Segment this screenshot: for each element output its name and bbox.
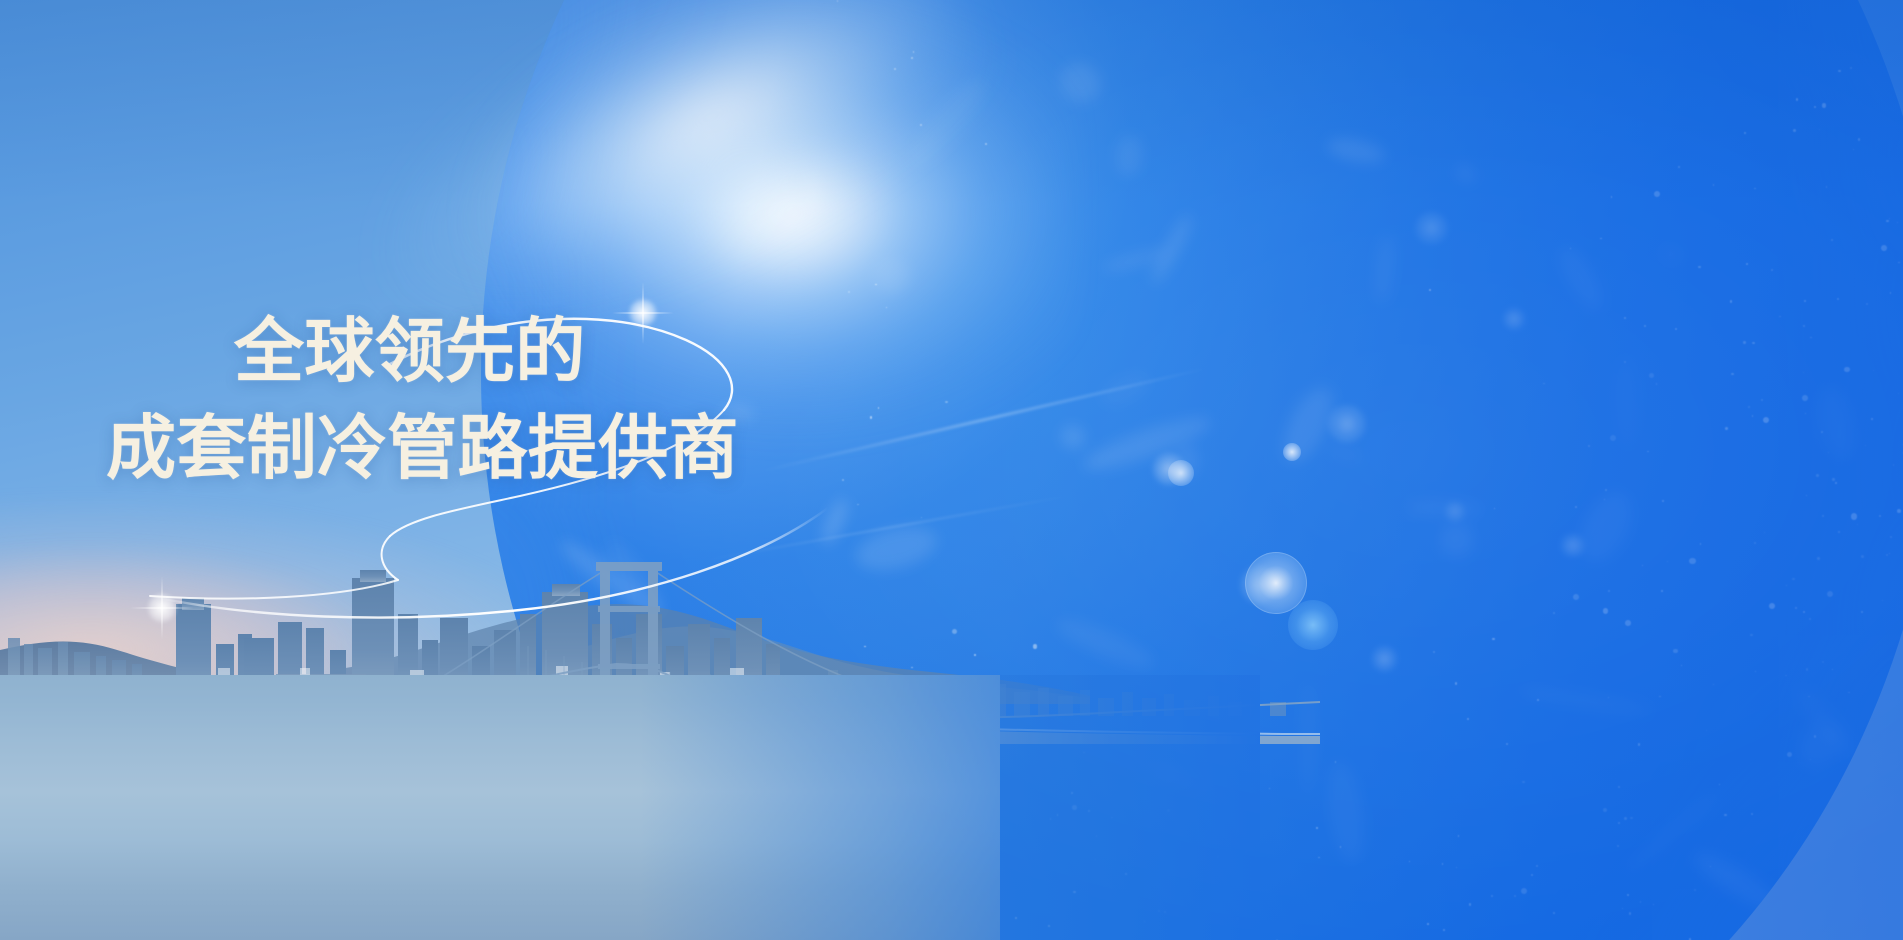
hero-banner: 全球领先的 成套制冷管路提供商 — [0, 0, 1903, 940]
hero-headline: 全球领先的 成套制冷管路提供商 — [106, 306, 866, 494]
headline-line-1: 全球领先的 — [234, 306, 866, 397]
headline-line-2: 成套制冷管路提供商 — [106, 403, 866, 494]
water-blue-blend — [640, 675, 1260, 940]
